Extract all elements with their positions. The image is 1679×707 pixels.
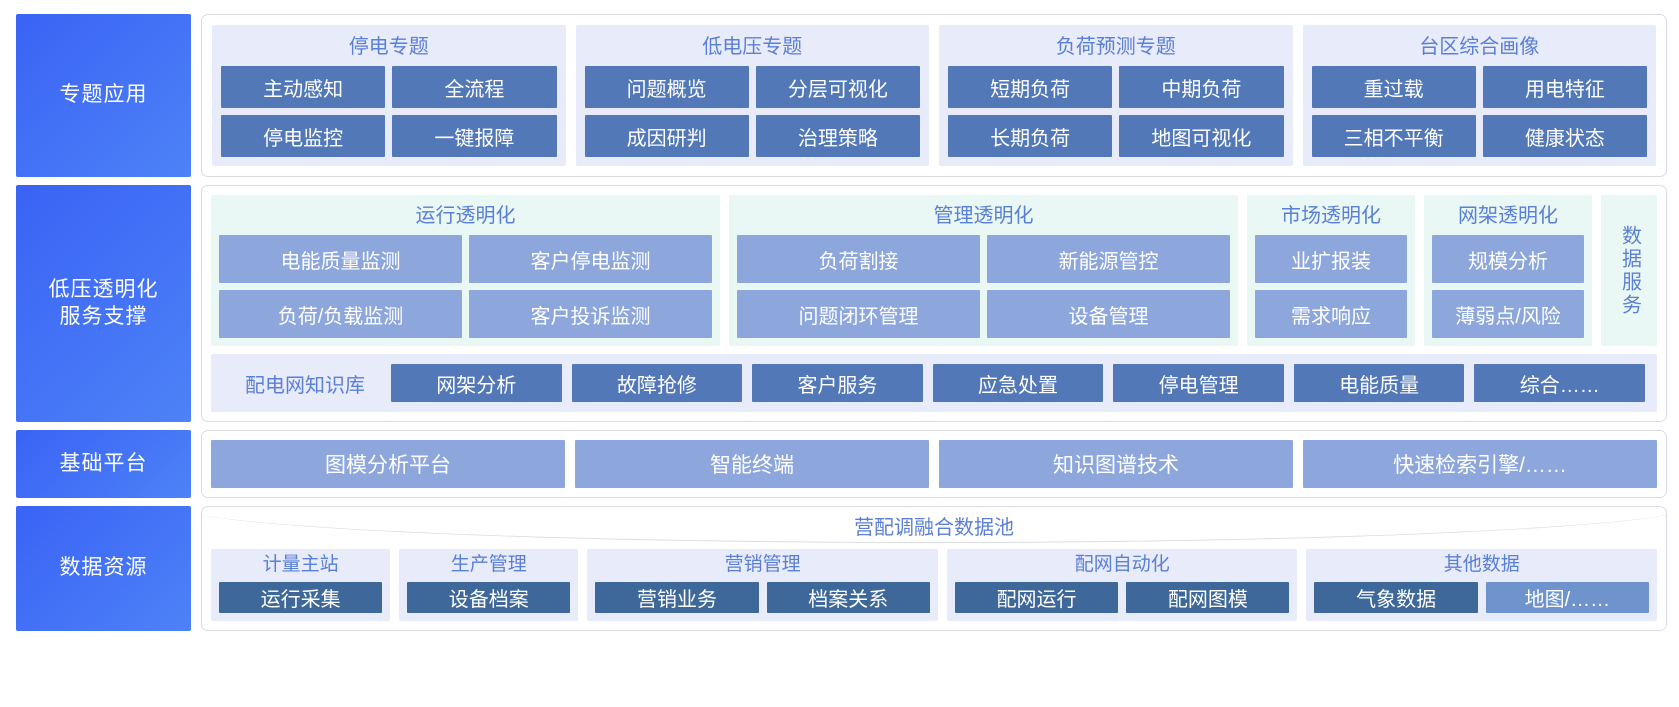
cell-item[interactable]: 三相不平衡: [1312, 115, 1476, 157]
layer-body-topic-applications: 停电专题 主动感知 全流程 停电监控 一键报障 低电压专题 问题概览 分层可视化…: [201, 14, 1667, 177]
transparency-groups: 运行透明化 电能质量监测 客户停电监测 负荷/负载监测 客户投诉监测 管理透明化…: [211, 195, 1657, 346]
group-market-transparency: 市场透明化 业扩报装 需求响应: [1247, 195, 1415, 346]
cell-item[interactable]: 客户投诉监测: [469, 290, 712, 338]
cell-item[interactable]: 薄弱点/风险: [1432, 290, 1584, 338]
layer-body-data-resources: 营配调融合数据池 计量主站 运行采集 生产管理 设备档案 营销管理: [201, 506, 1667, 631]
group-title: 网架透明化: [1432, 201, 1584, 235]
group-cells: 主动感知 全流程 停电监控 一键报障: [221, 66, 557, 157]
cell-item[interactable]: 长期负荷: [948, 115, 1112, 157]
group-title: 其他数据: [1314, 551, 1649, 582]
cell-item[interactable]: 成因研判: [585, 115, 749, 157]
cell-item[interactable]: 快速检索引擎/……: [1303, 440, 1657, 488]
group-marketing-management: 营销管理 营销业务 档案关系: [587, 549, 938, 621]
group-title: 数据服务: [1615, 225, 1644, 317]
layer-topic-applications: 专题应用 停电专题 主动感知 全流程 停电监控 一键报障 低电压专题 问题概览 …: [16, 14, 1667, 177]
cell-item[interactable]: 问题闭环管理: [737, 290, 980, 338]
layer-label-line2: 服务支撑: [60, 305, 148, 328]
group-title: 营销管理: [595, 551, 930, 582]
knowledge-base-label: 配电网知识库: [223, 369, 381, 398]
layer-label-topic-applications: 专题应用: [16, 14, 191, 177]
group-data-service: 数据服务: [1601, 195, 1657, 346]
cell-item[interactable]: 问题概览: [585, 66, 749, 108]
layer-body-base-platform: 图模分析平台 智能终端 知识图谱技术 快速检索引擎/……: [201, 430, 1667, 498]
cell-item[interactable]: 一键报障: [392, 115, 556, 157]
cell-item[interactable]: 综合……: [1474, 364, 1645, 402]
cell-item[interactable]: 中期负荷: [1119, 66, 1283, 108]
group-metering-master-station: 计量主站 运行采集: [211, 549, 390, 621]
group-cells: 规模分析 薄弱点/风险: [1432, 235, 1584, 338]
data-pool-title: 营配调融合数据池: [202, 511, 1666, 540]
group-title: 运行透明化: [219, 201, 712, 235]
group-title: 计量主站: [219, 551, 382, 582]
group-title: 低电压专题: [585, 32, 921, 66]
cell-item[interactable]: 客户停电监测: [469, 235, 712, 283]
group-title: 配网自动化: [955, 551, 1290, 582]
group-operation-transparency: 运行透明化 电能质量监测 客户停电监测 负荷/负载监测 客户投诉监测: [211, 195, 720, 346]
layer-label-transparency-support: 低压透明化 服务支撑: [16, 185, 191, 422]
group-outage-topic: 停电专题 主动感知 全流程 停电监控 一键报障: [212, 25, 566, 166]
group-cells: 设备档案: [407, 582, 570, 613]
cell-item[interactable]: 故障抢修: [572, 364, 743, 402]
cell-item[interactable]: 气象数据: [1314, 582, 1477, 613]
layer-transparency-support: 低压透明化 服务支撑 运行透明化 电能质量监测 客户停电监测 负荷/负载监测 客…: [16, 185, 1667, 422]
cell-item[interactable]: 重过载: [1312, 66, 1476, 108]
cell-item[interactable]: 短期负荷: [948, 66, 1112, 108]
cell-item[interactable]: 规模分析: [1432, 235, 1584, 283]
cell-item[interactable]: 全流程: [392, 66, 556, 108]
group-cells: 重过载 用电特征 三相不平衡 健康状态: [1312, 66, 1648, 157]
cell-item[interactable]: 负荷割接: [737, 235, 980, 283]
group-cells: 运行采集: [219, 582, 382, 613]
group-cells: 电能质量监测 客户停电监测 负荷/负载监测 客户投诉监测: [219, 235, 712, 338]
layer-data-resources: 数据资源 营配调融合数据池 计量主站 运行采集 生产管理 设备档案: [16, 506, 1667, 631]
layer-base-platform: 基础平台 图模分析平台 智能终端 知识图谱技术 快速检索引擎/……: [16, 430, 1667, 498]
cell-item[interactable]: 地图可视化: [1119, 115, 1283, 157]
group-cells: 问题概览 分层可视化 成因研判 治理策略: [585, 66, 921, 157]
group-cells: 业扩报装 需求响应: [1255, 235, 1407, 338]
cell-item[interactable]: 配网图模: [1126, 582, 1289, 613]
cell-item[interactable]: 设备档案: [407, 582, 570, 613]
cell-item[interactable]: 用电特征: [1483, 66, 1647, 108]
group-distribution-automation: 配网自动化 配网运行 配网图模: [947, 549, 1298, 621]
group-cells: 负荷割接 新能源管控 问题闭环管理 设备管理: [737, 235, 1230, 338]
group-title: 停电专题: [221, 32, 557, 66]
cell-item[interactable]: 应急处置: [933, 364, 1104, 402]
cell-item[interactable]: 智能终端: [575, 440, 929, 488]
cell-item[interactable]: 设备管理: [987, 290, 1230, 338]
cell-item[interactable]: 分层可视化: [756, 66, 920, 108]
cell-item[interactable]: 配网运行: [955, 582, 1118, 613]
layer-label-base-platform: 基础平台: [16, 430, 191, 498]
group-cells: 短期负荷 中期负荷 长期负荷 地图可视化: [948, 66, 1284, 157]
cell-item[interactable]: 健康状态: [1483, 115, 1647, 157]
cell-item[interactable]: 治理策略: [756, 115, 920, 157]
layer-label-line1: 低压透明化: [49, 278, 159, 301]
group-production-management: 生产管理 设备档案: [399, 549, 578, 621]
group-title: 生产管理: [407, 551, 570, 582]
cell-item[interactable]: 停电监控: [221, 115, 385, 157]
cell-item[interactable]: 电能质量: [1294, 364, 1465, 402]
cell-item[interactable]: 新能源管控: [987, 235, 1230, 283]
cell-item[interactable]: 停电管理: [1113, 364, 1284, 402]
group-grid-transparency: 网架透明化 规模分析 薄弱点/风险: [1424, 195, 1592, 346]
cell-item[interactable]: 档案关系: [767, 582, 930, 613]
group-load-forecast-topic: 负荷预测专题 短期负荷 中期负荷 长期负荷 地图可视化: [939, 25, 1293, 166]
group-cells: 气象数据 地图/……: [1314, 582, 1649, 613]
cell-item[interactable]: 客户服务: [752, 364, 923, 402]
group-title: 负荷预测专题: [948, 32, 1284, 66]
cell-item[interactable]: 知识图谱技术: [939, 440, 1293, 488]
group-cells: 配网运行 配网图模: [955, 582, 1290, 613]
layer-body-transparency-support: 运行透明化 电能质量监测 客户停电监测 负荷/负载监测 客户投诉监测 管理透明化…: [201, 185, 1667, 422]
cell-item[interactable]: 电能质量监测: [219, 235, 462, 283]
architecture-diagram: 专题应用 停电专题 主动感知 全流程 停电监控 一键报障 低电压专题 问题概览 …: [0, 0, 1679, 707]
knowledge-base-bar: 配电网知识库 网架分析 故障抢修 客户服务 应急处置 停电管理 电能质量 综合……: [211, 354, 1657, 412]
cell-item[interactable]: 运行采集: [219, 582, 382, 613]
cell-item[interactable]: 图模分析平台: [211, 440, 565, 488]
layer-label-data-resources: 数据资源: [16, 506, 191, 631]
group-low-voltage-topic: 低电压专题 问题概览 分层可视化 成因研判 治理策略: [576, 25, 930, 166]
cell-item[interactable]: 负荷/负载监测: [219, 290, 462, 338]
cell-item[interactable]: 网架分析: [391, 364, 562, 402]
group-station-profile-topic: 台区综合画像 重过载 用电特征 三相不平衡 健康状态: [1303, 25, 1657, 166]
cell-item[interactable]: 主动感知: [221, 66, 385, 108]
group-other-data: 其他数据 气象数据 地图/……: [1306, 549, 1657, 621]
cell-item[interactable]: 需求响应: [1255, 290, 1407, 338]
cell-item[interactable]: 业扩报装: [1255, 235, 1407, 283]
group-title: 台区综合画像: [1312, 32, 1648, 66]
cell-item[interactable]: 营销业务: [595, 582, 758, 613]
group-cells: 营销业务 档案关系: [595, 582, 930, 613]
group-title: 市场透明化: [1255, 201, 1407, 235]
cell-item[interactable]: 地图/……: [1486, 582, 1649, 613]
group-title: 管理透明化: [737, 201, 1230, 235]
data-resource-groups: 计量主站 运行采集 生产管理 设备档案 营销管理 营销业务 档案关系: [211, 549, 1657, 621]
group-management-transparency: 管理透明化 负荷割接 新能源管控 问题闭环管理 设备管理: [729, 195, 1238, 346]
